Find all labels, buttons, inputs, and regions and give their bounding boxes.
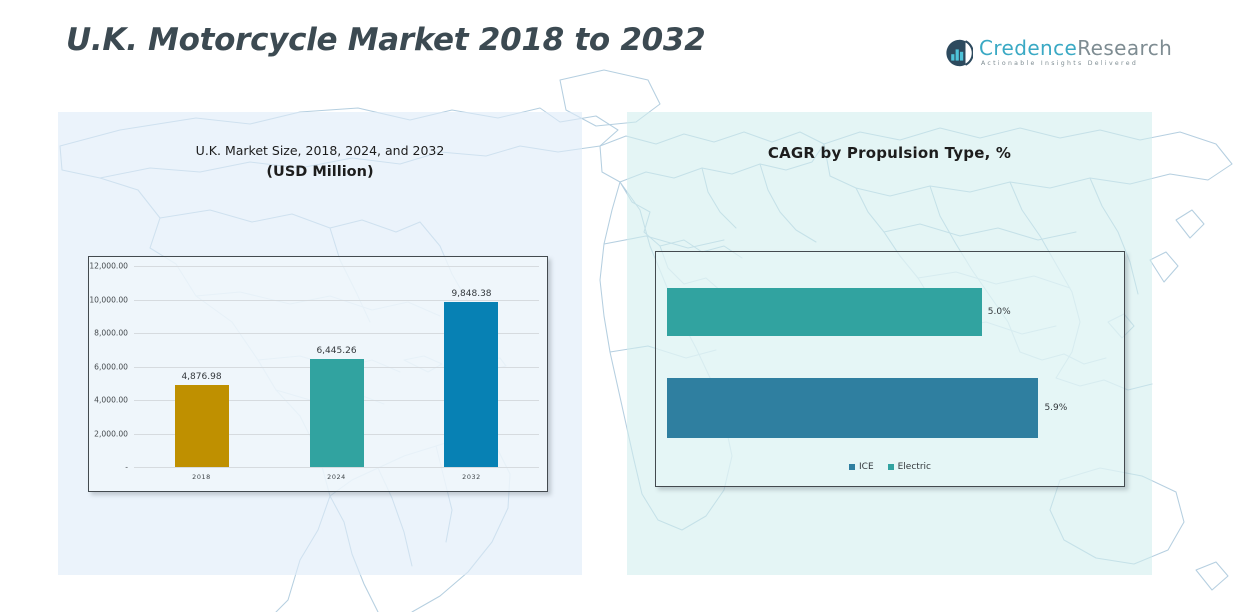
legend-swatch-icon — [849, 464, 855, 470]
bar-value-label: 5.9% — [1044, 403, 1067, 413]
right-chart-title: CAGR by Propulsion Type, % — [627, 144, 1152, 162]
bar-ice — [667, 378, 1038, 438]
left-chart-title-line1: U.K. Market Size, 2018, 2024, and 2032 — [58, 143, 582, 158]
brand-logo: CredenceResearch Actionable Insights Del… — [943, 36, 1133, 76]
bar-column: 4,876.982018 — [175, 385, 229, 467]
bar-column: 6,445.262024 — [310, 359, 364, 467]
bar-2024 — [310, 359, 364, 467]
y-axis-tick-label: 6,000.00 — [94, 362, 128, 371]
market-size-plot-area: -2,000.004,000.006,000.008,000.0010,000.… — [134, 266, 539, 467]
x-axis-category-label: 2032 — [462, 473, 481, 481]
x-axis-category-label: 2024 — [327, 473, 346, 481]
brand-tagline: Actionable Insights Delivered — [981, 60, 1138, 67]
legend-item-electric[interactable]: Electric — [888, 462, 931, 472]
gridline: 10,000.00 — [134, 300, 539, 301]
bar-2018 — [175, 385, 229, 467]
y-axis-tick-label: 10,000.00 — [89, 295, 128, 304]
infographic-canvas: U.K. Motorcycle Market 2018 to 2032 Cred… — [0, 0, 1255, 612]
bar-value-label: 5.0% — [988, 307, 1011, 317]
bar-chart-circle-icon — [943, 38, 973, 68]
bar-value-label: 6,445.26 — [316, 346, 356, 356]
legend-swatch-icon — [888, 464, 894, 470]
y-axis-tick-label: 2,000.00 — [94, 429, 128, 438]
cagr-legend: ICEElectric — [656, 462, 1124, 472]
left-chart-title-line2: (USD Million) — [58, 164, 582, 180]
hbar-row: 5.9% — [667, 378, 1038, 438]
bar-column: 9,848.382032 — [444, 302, 498, 467]
page-title: U.K. Motorcycle Market 2018 to 2032 — [66, 22, 705, 58]
y-axis-tick-label: 8,000.00 — [94, 329, 128, 338]
legend-item-ice[interactable]: ICE — [849, 462, 874, 472]
bar-value-label: 9,848.38 — [451, 289, 491, 299]
gridline: 12,000.00 — [134, 266, 539, 267]
brand-wordmark: CredenceResearch — [979, 36, 1172, 60]
gridline: - — [134, 467, 539, 468]
bar-value-label: 4,876.98 — [181, 372, 221, 382]
cagr-plot-area: 5.0%5.9% — [667, 266, 1114, 440]
bar-electric — [667, 288, 982, 336]
hbar-row: 5.0% — [667, 288, 982, 336]
bar-2032 — [444, 302, 498, 467]
legend-label: Electric — [898, 462, 931, 472]
market-size-bar-chart: -2,000.004,000.006,000.008,000.0010,000.… — [88, 256, 548, 492]
x-axis-category-label: 2018 — [192, 473, 211, 481]
y-axis-tick-label: 4,000.00 — [94, 396, 128, 405]
cagr-bar-chart: 5.0%5.9% ICEElectric — [655, 251, 1125, 487]
y-axis-tick-label: 12,000.00 — [89, 262, 128, 271]
y-axis-tick-label: - — [125, 463, 128, 472]
legend-label: ICE — [859, 462, 874, 472]
brand-word-credence: Credence — [979, 36, 1077, 60]
brand-word-research: Research — [1077, 36, 1172, 60]
